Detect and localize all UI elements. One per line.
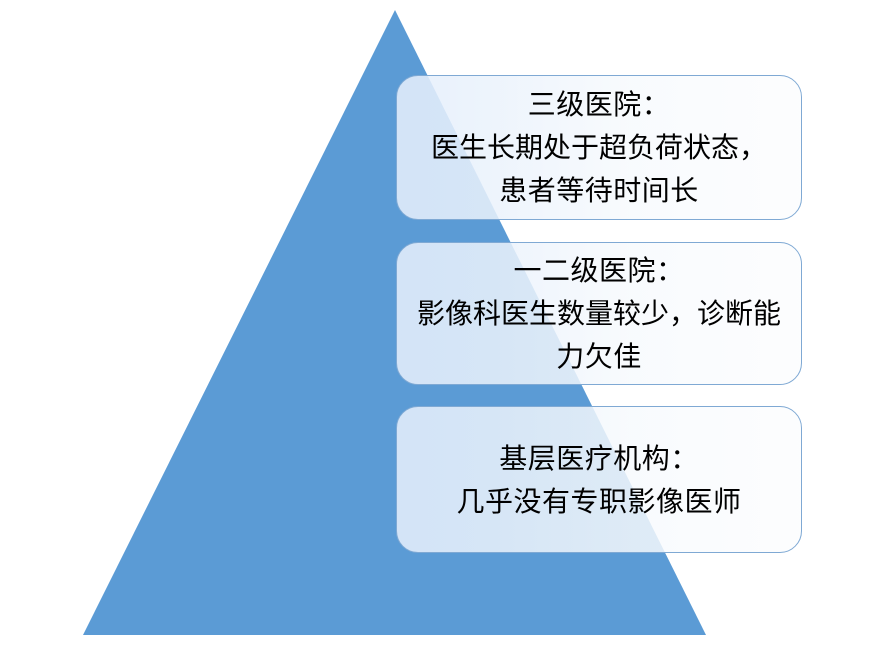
- callout-secondary-line-2: 力欠佳: [403, 335, 795, 378]
- callout-tertiary-line-2: 患者等待时间长: [403, 169, 795, 212]
- callout-tertiary-line-1: 医生长期处于超负荷状态，: [403, 126, 795, 169]
- diagram-canvas: 三级医院： 医生长期处于超负荷状态， 患者等待时间长 一二级医院： 影像科医生数…: [0, 0, 890, 656]
- callout-tertiary-hospital[interactable]: 三级医院： 医生长期处于超负荷状态， 患者等待时间长: [396, 75, 802, 220]
- callout-tertiary-heading: 三级医院：: [403, 83, 795, 126]
- callout-primary-heading: 基层医疗机构：: [403, 437, 795, 480]
- callout-secondary-heading: 一二级医院：: [403, 249, 795, 292]
- callout-secondary-hospital[interactable]: 一二级医院： 影像科医生数量较少，诊断能 力欠佳: [396, 242, 802, 385]
- callout-secondary-line-1: 影像科医生数量较少，诊断能: [403, 292, 795, 335]
- callout-primary-line-1: 几乎没有专职影像医师: [403, 480, 795, 523]
- callout-primary-care-institution[interactable]: 基层医疗机构： 几乎没有专职影像医师: [396, 406, 802, 553]
